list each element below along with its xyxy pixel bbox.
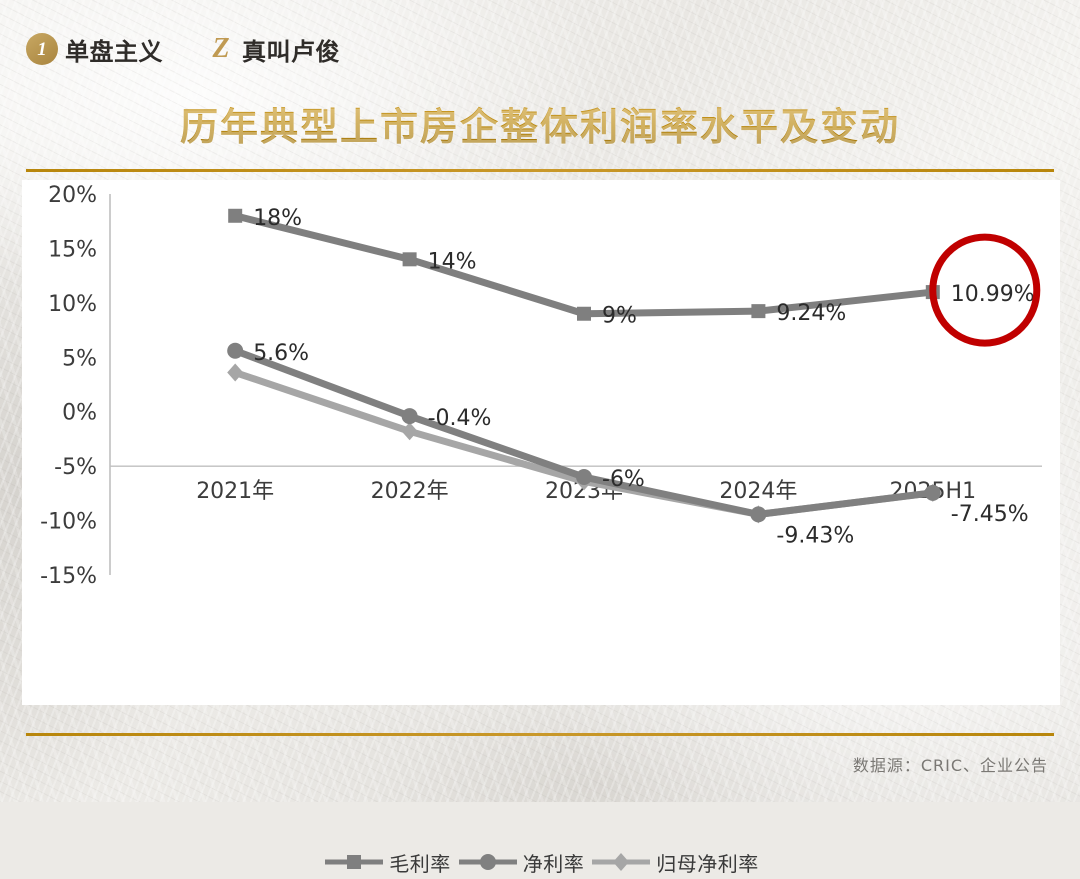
data-label: -0.4% — [428, 406, 492, 431]
series-marker — [227, 343, 243, 359]
data-label: 14% — [428, 249, 477, 274]
legend-label: 毛利率 — [389, 848, 451, 877]
legend-item[interactable]: 归母净利率 — [590, 848, 759, 877]
chart-panel: 20%15%10%5%0%-5%-10%-15%2021年2022年2023年2… — [22, 180, 1060, 705]
header-brand-bar: 1 单盘主义 Z 真叫卢俊 — [26, 27, 340, 71]
y-axis-tick-label: -10% — [40, 510, 97, 535]
legend-marker — [347, 855, 361, 869]
data-label: -9.43% — [776, 523, 854, 548]
x-axis-tick-label: 2021年 — [196, 479, 274, 504]
series-marker — [577, 307, 591, 321]
legend-marker-circle-icon — [457, 851, 519, 873]
x-axis-tick-label: 2024年 — [719, 479, 797, 504]
y-axis-tick-label: 5% — [62, 346, 97, 371]
line-chart: 20%15%10%5%0%-5%-10%-15%2021年2022年2023年2… — [22, 180, 1060, 705]
legend-marker — [480, 854, 496, 870]
brand-danpanzhuyi: 1 单盘主义 — [26, 32, 163, 67]
circle-one-logo-icon: 1 — [26, 33, 58, 65]
series-marker — [227, 364, 243, 382]
data-label: -7.45% — [951, 502, 1029, 527]
legend-label: 归母净利率 — [656, 848, 759, 877]
data-label: 18% — [253, 206, 302, 231]
data-label: 9.24% — [776, 301, 846, 326]
gold-rule-bottom — [26, 733, 1054, 736]
data-label: -6% — [602, 467, 645, 492]
legend-marker — [613, 853, 629, 871]
gold-rule-top — [26, 169, 1054, 172]
legend-item[interactable]: 净利率 — [457, 848, 585, 877]
series-line-毛利率 — [235, 216, 933, 314]
legend-marker-square-icon — [323, 851, 385, 873]
series-marker — [576, 469, 592, 485]
series-marker — [228, 209, 242, 223]
series-marker — [402, 408, 418, 424]
chart-legend: 毛利率净利率归母净利率 — [22, 845, 1060, 879]
page-title: 历年典型上市房企整体利润率水平及变动 — [0, 96, 1080, 151]
x-axis-tick-label: 2022年 — [371, 479, 449, 504]
y-axis-tick-label: 20% — [48, 183, 97, 208]
series-marker — [750, 506, 766, 522]
y-axis-tick-label: 0% — [62, 401, 97, 426]
legend-item[interactable]: 毛利率 — [323, 848, 451, 877]
series-marker — [751, 304, 765, 318]
y-axis-tick-label: -5% — [54, 455, 97, 480]
letter-z-logo-icon: Z — [207, 33, 235, 65]
y-axis-tick-label: -15% — [40, 564, 97, 589]
brand-name-zhenjiaolujun: 真叫卢俊 — [242, 32, 340, 67]
legend-marker-diamond-icon — [590, 851, 652, 873]
brand-zhenjiaolujun: Z 真叫卢俊 — [207, 32, 340, 67]
data-label: 9% — [602, 304, 637, 329]
legend-label: 净利率 — [523, 848, 585, 877]
series-marker — [402, 422, 418, 440]
series-marker — [403, 252, 417, 266]
y-axis-tick-label: 15% — [48, 237, 97, 262]
brand-name-danpanzhuyi: 单盘主义 — [65, 32, 163, 67]
data-label: 5.6% — [253, 341, 309, 366]
data-label: 10.99% — [951, 282, 1035, 307]
series-marker — [925, 485, 941, 501]
y-axis-tick-label: 10% — [48, 292, 97, 317]
source-note: 数据源：CRIC、企业公告 — [853, 752, 1048, 776]
